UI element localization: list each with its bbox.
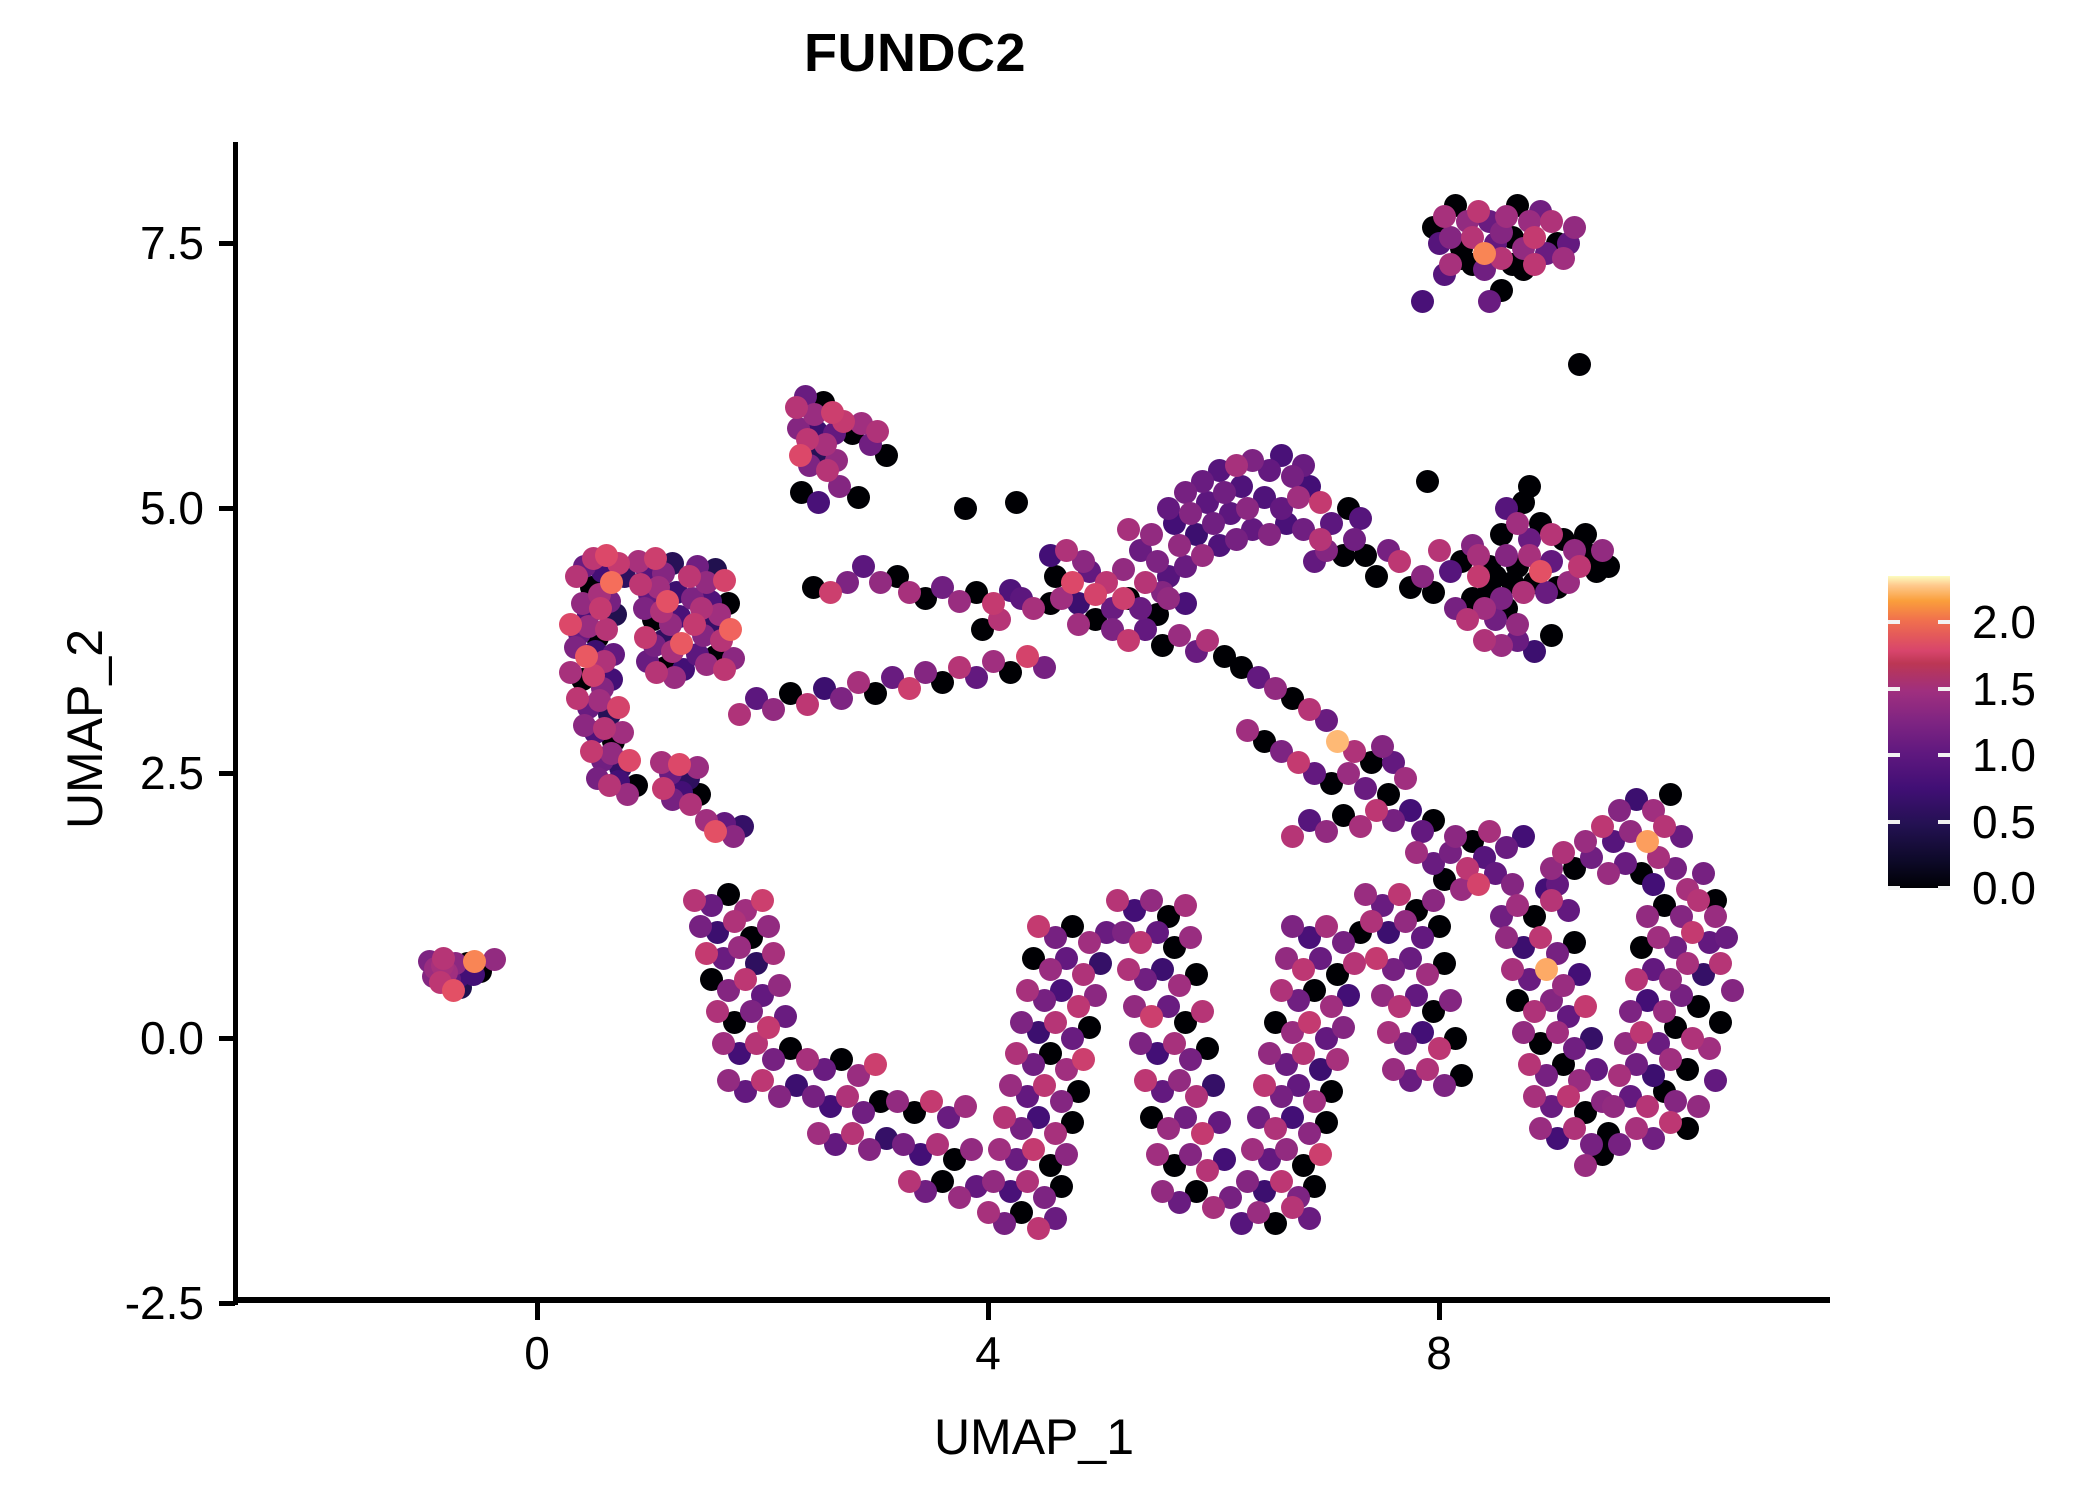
scatter-point xyxy=(1659,1111,1682,1134)
y-tick-mark xyxy=(219,1036,235,1041)
colorbar-tick-label: 1.5 xyxy=(1972,666,2036,712)
scatter-point xyxy=(1117,629,1140,652)
scatter-point xyxy=(712,1032,735,1055)
scatter-point xyxy=(1298,698,1321,721)
scatter-point xyxy=(1168,974,1191,997)
scatter-point xyxy=(1117,518,1140,541)
x-tick-mark xyxy=(986,1303,991,1320)
colorbar-tick-label: 2.0 xyxy=(1972,599,2036,645)
scatter-point xyxy=(751,1069,774,1092)
scatter-point xyxy=(1608,1064,1631,1087)
scatter-point xyxy=(1512,581,1535,604)
scatter-point xyxy=(1084,583,1107,606)
scatter-point xyxy=(1411,926,1434,949)
colorbar-tick-mark xyxy=(1938,620,1950,624)
scatter-point xyxy=(1196,1159,1219,1182)
scatter-point xyxy=(830,687,853,710)
scatter-point xyxy=(1320,995,1343,1018)
scatter-point xyxy=(1303,1090,1326,1113)
scatter-point xyxy=(589,597,612,620)
scatter-point xyxy=(1574,995,1597,1018)
scatter-point xyxy=(1174,481,1197,504)
scatter-point xyxy=(670,632,693,655)
scatter-point xyxy=(1709,1011,1732,1034)
y-axis-line xyxy=(233,142,238,1305)
scatter-point xyxy=(1647,926,1670,949)
scatter-point xyxy=(1659,1048,1682,1071)
scatter-point xyxy=(1078,931,1101,954)
scatter-point xyxy=(1281,825,1304,848)
scatter-point xyxy=(1191,1122,1214,1145)
scatter-point xyxy=(1574,1154,1597,1177)
scatter-point xyxy=(1315,820,1338,843)
y-tick-mark xyxy=(219,506,235,511)
scatter-point xyxy=(1213,481,1236,504)
scatter-point xyxy=(1371,735,1394,758)
scatter-point xyxy=(1349,507,1372,530)
scatter-point xyxy=(1467,200,1490,223)
scatter-point xyxy=(1721,979,1744,1002)
scatter-point xyxy=(1557,1085,1580,1108)
scatter-point xyxy=(1467,873,1490,896)
scatter-point xyxy=(634,626,657,649)
scatter-point xyxy=(1416,963,1439,986)
scatter-point xyxy=(1287,486,1310,509)
scatter-point xyxy=(593,717,616,740)
scatter-point xyxy=(982,1170,1005,1193)
scatter-point xyxy=(1388,550,1411,573)
scatter-point xyxy=(1377,1021,1400,1044)
scatter-point xyxy=(1202,1196,1225,1219)
scatter-point xyxy=(1478,290,1501,313)
scatter-point xyxy=(1337,762,1360,785)
scatter-point xyxy=(768,1085,791,1108)
y-tick-label: 7.5 xyxy=(140,220,204,266)
scatter-point xyxy=(1270,1170,1293,1193)
y-tick-mark xyxy=(219,241,235,246)
scatter-point xyxy=(785,396,808,419)
colorbar-tick-mark xyxy=(1938,820,1950,824)
scatter-point xyxy=(1681,921,1704,944)
colorbar-tick-mark xyxy=(1938,753,1950,757)
scatter-point xyxy=(1422,889,1445,912)
scatter-point xyxy=(683,889,706,912)
scatter-point xyxy=(869,571,892,594)
colorbar-tick-mark xyxy=(1888,886,1900,890)
scatter-point xyxy=(1529,926,1552,949)
scatter-point xyxy=(1281,465,1304,488)
scatter-point xyxy=(483,948,506,971)
scatter-point xyxy=(1354,777,1377,800)
scatter-point xyxy=(1326,730,1349,753)
scatter-point xyxy=(1191,1000,1214,1023)
scatter-point xyxy=(1495,205,1518,228)
scatter-point xyxy=(762,698,785,721)
y-tick-mark xyxy=(219,1301,235,1306)
scatter-point xyxy=(1287,751,1310,774)
scatter-point xyxy=(1653,1000,1676,1023)
scatter-point xyxy=(1636,905,1659,928)
scatter-point xyxy=(1157,1117,1180,1140)
scatter-point xyxy=(1326,1048,1349,1071)
scatter-point xyxy=(1439,226,1462,249)
scatter-point xyxy=(1044,1011,1067,1034)
scatter-point xyxy=(1428,1037,1451,1060)
scatter-point xyxy=(960,1138,983,1161)
scatter-point xyxy=(1535,581,1558,604)
scatter-point xyxy=(1179,502,1202,525)
scatter-point xyxy=(898,677,921,700)
scatter-point xyxy=(1597,862,1620,885)
scatter-point xyxy=(618,749,641,772)
scatter-point xyxy=(1005,491,1028,514)
colorbar-tick-label: 0.5 xyxy=(1972,799,2036,845)
scatter-point xyxy=(821,401,844,424)
scatter-point xyxy=(1478,820,1501,843)
scatter-point xyxy=(679,793,702,816)
scatter-point xyxy=(836,1085,859,1108)
scatter-point xyxy=(1016,1170,1039,1193)
scatter-point xyxy=(1112,587,1135,610)
scatter-point xyxy=(629,573,652,596)
scatter-point xyxy=(678,565,701,588)
scatter-point xyxy=(1117,958,1140,981)
scatter-point xyxy=(1033,1186,1056,1209)
scatter-point xyxy=(1134,571,1157,594)
x-axis-line xyxy=(233,1297,1830,1303)
scatter-point xyxy=(1642,873,1665,896)
scatter-point xyxy=(1518,475,1541,498)
scatter-point xyxy=(1236,719,1259,742)
scatter-point xyxy=(706,1000,729,1023)
scatter-point xyxy=(1405,841,1428,864)
scatter-point xyxy=(768,974,791,997)
scatter-point xyxy=(762,942,785,965)
scatter-point xyxy=(656,590,679,613)
scatter-point xyxy=(1388,995,1411,1018)
scatter-point xyxy=(982,592,1005,615)
scatter-point xyxy=(1704,1069,1727,1092)
scatter-point xyxy=(1315,915,1338,938)
scatter-point xyxy=(1563,1117,1586,1140)
scatter-point xyxy=(1185,1085,1208,1108)
scatter-point xyxy=(1523,1085,1546,1108)
scatter-point xyxy=(432,947,455,970)
scatter-point xyxy=(1129,931,1152,954)
scatter-point xyxy=(1636,1095,1659,1118)
scatter-point xyxy=(807,491,830,514)
scatter-point xyxy=(1591,815,1614,838)
scatter-point xyxy=(652,777,675,800)
scatter-point xyxy=(819,581,842,604)
y-tick-label: -2.5 xyxy=(125,1280,204,1326)
scatter-point xyxy=(1022,597,1045,620)
scatter-point xyxy=(1157,587,1180,610)
x-axis-title: UMAP_1 xyxy=(238,1408,1830,1466)
scatter-point xyxy=(1309,1143,1332,1166)
scatter-point xyxy=(1501,958,1524,981)
scatter-point xyxy=(1416,470,1439,493)
scatter-point xyxy=(1140,523,1163,546)
scatter-point xyxy=(1456,608,1479,631)
scatter-point xyxy=(1473,242,1496,265)
scatter-point xyxy=(1281,1196,1304,1219)
scatter-point xyxy=(1061,1027,1084,1050)
scatter-point xyxy=(645,661,668,684)
scatter-point xyxy=(841,1122,864,1145)
scatter-point xyxy=(1332,1016,1355,1039)
scatter-point xyxy=(1010,1011,1033,1034)
scatter-point xyxy=(1563,216,1586,239)
scatter-point xyxy=(1529,1117,1552,1140)
colorbar-tick-mark xyxy=(1938,886,1950,890)
scatter-point xyxy=(1343,952,1366,975)
scatter-point xyxy=(1365,799,1388,822)
scatter-point xyxy=(751,889,774,912)
scatter-point xyxy=(1546,1021,1569,1044)
scatter-point xyxy=(1495,836,1518,859)
scatter-point xyxy=(1332,931,1355,954)
colorbar-tick-label: 1.0 xyxy=(1972,732,2036,778)
scatter-point xyxy=(1067,613,1090,636)
colorbar-tick-mark xyxy=(1888,753,1900,757)
scatter-point xyxy=(595,618,618,641)
scatter-point xyxy=(695,942,718,965)
scatter-point xyxy=(1225,454,1248,477)
scatter-point xyxy=(1281,915,1304,938)
scatter-point xyxy=(717,1069,740,1092)
y-axis-title: UMAP_2 xyxy=(56,329,114,1129)
scatter-point xyxy=(1540,624,1563,647)
x-tick-label: 4 xyxy=(928,1330,1048,1376)
scatter-point xyxy=(1055,1143,1078,1166)
scatter-point xyxy=(1044,1122,1067,1145)
scatter-point xyxy=(1146,550,1169,573)
scatter-point xyxy=(1715,926,1738,949)
scatter-point xyxy=(858,1138,881,1161)
scatter-point xyxy=(864,1053,887,1076)
colorbar-tick-mark xyxy=(1888,820,1900,824)
scatter-point xyxy=(757,915,780,938)
scatter-point xyxy=(668,753,691,776)
scatter-point xyxy=(926,1133,949,1156)
scatter-point xyxy=(1050,1090,1073,1113)
scatter-point xyxy=(1709,952,1732,975)
umap-feature-plot: FUNDC2 -2.50.02.55.07.5 048 UMAP_1 UMAP_… xyxy=(0,0,2100,1500)
scatter-point xyxy=(1022,1138,1045,1161)
y-tick-label: 0.0 xyxy=(140,1015,204,1061)
scatter-point xyxy=(802,1085,825,1108)
scatter-point xyxy=(1174,894,1197,917)
colorbar-tick-label: 0.0 xyxy=(1972,865,2036,911)
scatter-point xyxy=(1061,571,1084,594)
scatter-point xyxy=(1568,353,1591,376)
scatter-point xyxy=(1202,512,1225,535)
scatter-point xyxy=(1106,889,1129,912)
scatter-point xyxy=(1027,1217,1050,1240)
scatter-point xyxy=(1687,889,1710,912)
scatter-point xyxy=(1591,539,1614,562)
x-tick-mark xyxy=(535,1303,540,1320)
scatter-point xyxy=(1540,889,1563,912)
scatter-point xyxy=(1140,1005,1163,1028)
scatter-point xyxy=(954,1095,977,1118)
page-title: FUNDC2 xyxy=(0,22,1830,84)
scatter-point xyxy=(762,1048,785,1071)
scatter-point xyxy=(1676,952,1699,975)
scatter-point xyxy=(1163,1032,1186,1055)
scatter-point xyxy=(977,1201,1000,1224)
scatter-point xyxy=(1225,528,1248,551)
scatter-point xyxy=(1016,645,1039,668)
scatter-point xyxy=(1264,677,1287,700)
scatter-point xyxy=(607,696,630,719)
colorbar-tick-mark xyxy=(1938,687,1950,691)
scatter-point xyxy=(1264,1117,1287,1140)
x-tick-label: 8 xyxy=(1379,1330,1499,1376)
scatter-point xyxy=(575,645,598,668)
scatter-point xyxy=(988,1138,1011,1161)
y-tick-mark xyxy=(219,771,235,776)
scatter-point xyxy=(1394,767,1417,790)
scatter-point xyxy=(1523,253,1546,276)
scatter-point xyxy=(600,571,623,594)
scatter-point xyxy=(1664,1090,1687,1113)
scatter-point xyxy=(713,569,736,592)
scatter-point xyxy=(1033,1074,1056,1097)
scatter-point xyxy=(1619,1000,1642,1023)
x-tick-label: 0 xyxy=(477,1330,597,1376)
scatter-point xyxy=(1253,1074,1276,1097)
scatter-point xyxy=(898,581,921,604)
scatter-point xyxy=(1072,963,1095,986)
scatter-point xyxy=(1439,560,1462,583)
scatter-point xyxy=(1687,1095,1710,1118)
scatter-point xyxy=(1016,979,1039,1002)
scatter-point xyxy=(1236,497,1259,520)
scatter-point xyxy=(1439,989,1462,1012)
scatter-point xyxy=(1518,1053,1541,1076)
scatter-point xyxy=(598,774,621,797)
scatter-point xyxy=(1439,253,1462,276)
scatter-point xyxy=(1523,1000,1546,1023)
scatter-point xyxy=(1433,1074,1456,1097)
y-tick-label: 5.0 xyxy=(140,485,204,531)
scatter-point xyxy=(1428,539,1451,562)
scatter-point xyxy=(719,618,742,641)
scatter-point xyxy=(1129,1032,1152,1055)
scatter-point xyxy=(796,1048,819,1071)
scatter-point xyxy=(796,693,819,716)
scatter-point xyxy=(1659,968,1682,991)
scatter-point xyxy=(1298,1122,1321,1145)
scatter-point xyxy=(1625,968,1648,991)
scatter-point xyxy=(580,740,603,763)
scatter-point xyxy=(1360,910,1383,933)
scatter-point xyxy=(789,444,812,467)
scatter-point xyxy=(1394,910,1417,933)
scatter-point xyxy=(1236,1170,1259,1193)
scatter-point xyxy=(442,979,465,1002)
scatter-point xyxy=(1270,979,1293,1002)
scatter-point xyxy=(1552,247,1575,270)
scatter-point xyxy=(1681,1027,1704,1050)
scatter-point xyxy=(866,420,889,443)
scatter-point xyxy=(948,1186,971,1209)
scatter-point xyxy=(1495,926,1518,949)
scatter-point xyxy=(1602,1095,1625,1118)
scatter-point xyxy=(728,703,751,726)
scatter-point xyxy=(1275,1138,1298,1161)
scatter-point xyxy=(1067,995,1090,1018)
x-tick-mark xyxy=(1437,1303,1442,1320)
scatter-point xyxy=(1411,820,1434,843)
scatter-point xyxy=(1309,491,1332,514)
scatter-point xyxy=(1535,958,1558,981)
scatter-point xyxy=(1365,565,1388,588)
scatter-point xyxy=(892,1133,915,1156)
scatter-point xyxy=(1563,1037,1586,1060)
scatter-point xyxy=(1473,629,1496,652)
scatter-point xyxy=(757,1016,780,1039)
colorbar-tick-mark xyxy=(1888,687,1900,691)
scatter-point xyxy=(1411,565,1434,588)
scatter-point xyxy=(1179,926,1202,949)
scatter-point xyxy=(1433,205,1456,228)
scatter-point xyxy=(898,1170,921,1193)
scatter-point xyxy=(1191,544,1214,567)
scatter-point xyxy=(713,658,736,681)
scatter-point xyxy=(1258,523,1281,546)
scatter-point xyxy=(1298,1011,1321,1034)
scatter-point xyxy=(1039,958,1062,981)
scatter-point xyxy=(1411,290,1434,313)
scatter-point xyxy=(1501,873,1524,896)
scatter-point xyxy=(1467,544,1490,567)
scatter-point xyxy=(1625,1117,1648,1140)
scatter-point xyxy=(704,820,727,843)
scatter-point xyxy=(1292,958,1315,981)
y-tick-label: 2.5 xyxy=(140,750,204,796)
scatter-point xyxy=(1005,1042,1028,1065)
scatter-point xyxy=(954,497,977,520)
plot-panel xyxy=(238,142,1830,1300)
scatter-point xyxy=(1140,889,1163,912)
scatter-point xyxy=(948,656,971,679)
colorbar-tick-mark xyxy=(1888,620,1900,624)
scatter-point xyxy=(1552,841,1575,864)
scatter-point xyxy=(948,590,971,613)
scatter-point xyxy=(1168,534,1191,557)
scatter-point xyxy=(1072,1048,1095,1071)
scatter-point xyxy=(1168,624,1191,647)
scatter-point xyxy=(1529,560,1552,583)
scatter-point xyxy=(723,910,746,933)
scatter-point xyxy=(1146,1143,1169,1166)
